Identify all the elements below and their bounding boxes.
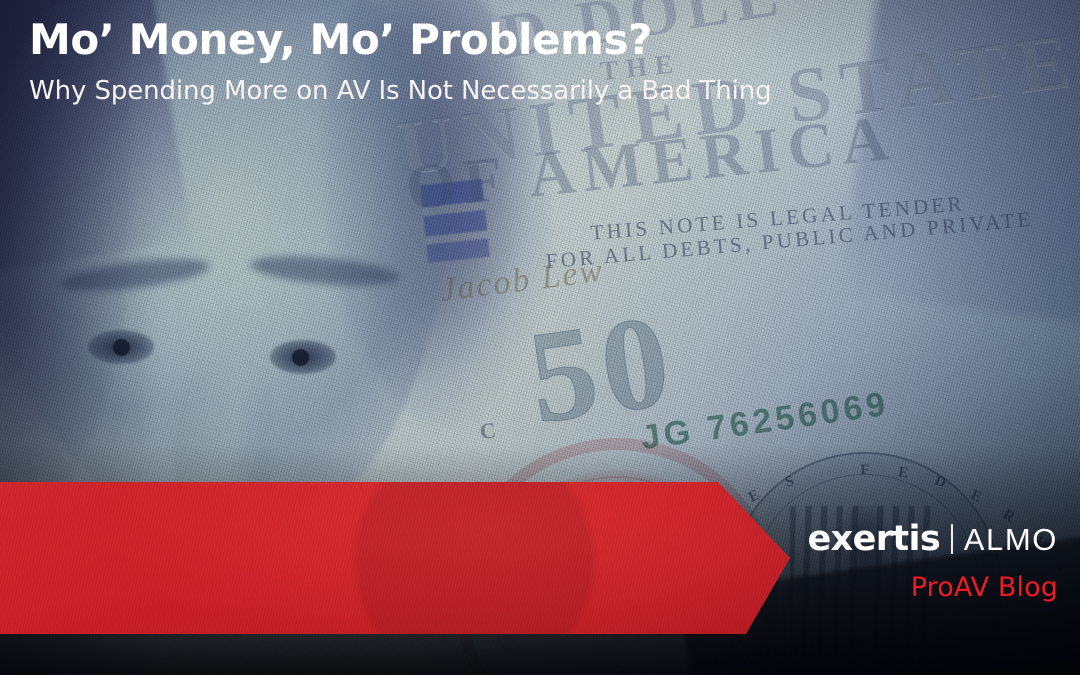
title-ribbon [0,482,790,634]
brand-tagline: ProAV Blog [807,574,1058,601]
brand-divider-icon [951,524,953,554]
ribbon-texture-overlay [0,482,790,634]
brand-logo-row: exertis ALMO [807,520,1058,557]
blog-header-banner: D DOLL THE UNITED STATES OF AMERICA THIS… [0,0,1080,675]
page-subtitle: Why Spending More on AV Is Not Necessari… [29,76,772,107]
brand-lockup[interactable]: exertis ALMO ProAV Blog [807,520,1058,601]
page-title: Mo’ Money, Mo’ Problems? [29,18,772,63]
title-block: Mo’ Money, Mo’ Problems? Why Spending Mo… [29,18,772,107]
brand-almo-wordmark: ALMO [964,524,1058,555]
brand-exertis-wordmark: exertis [807,522,940,557]
